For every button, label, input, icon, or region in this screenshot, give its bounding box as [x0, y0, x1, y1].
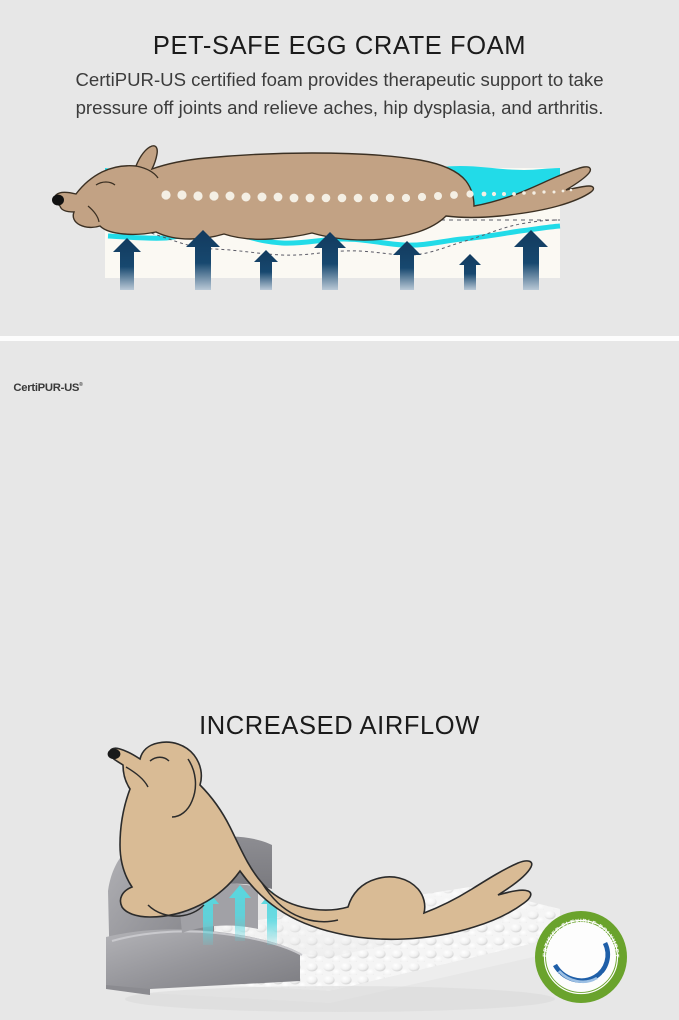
bed-ground-shadow: [125, 986, 555, 1012]
dog-lying-on-foam-illustration: [0, 138, 679, 338]
dog-nose: [52, 195, 64, 206]
badge-registered-mark: ®: [79, 382, 82, 388]
panel-pet-safe-egg-crate-foam: PET-SAFE EGG CRATE FOAM CertiPUR-US cert…: [0, 0, 679, 338]
certipur-us-seal: CONTAINS CERTIFIED FLEXIBLE POLYURETHANE…: [533, 909, 629, 1005]
foam-subtitle-line-2: pressure off joints and relieve aches, h…: [18, 94, 661, 122]
airflow-panel-heading: INCREASED AIRFLOW: [0, 712, 679, 741]
badge-wordmark: CertiPUR-US®: [0, 382, 96, 394]
badge-wordmark-text: CertiPUR-US: [13, 382, 79, 394]
panel-increased-airflow: INCREASED AIRFLOW: [0, 341, 679, 679]
foam-panel-heading: PET-SAFE EGG CRATE FOAM: [0, 32, 679, 61]
foam-subtitle-line-1: CertiPUR-US certified foam provides ther…: [18, 66, 661, 94]
foam-panel-subtitle: CertiPUR-US certified foam provides ther…: [18, 66, 661, 122]
dog-nose: [108, 749, 121, 759]
dog-body-shape: [110, 742, 532, 939]
